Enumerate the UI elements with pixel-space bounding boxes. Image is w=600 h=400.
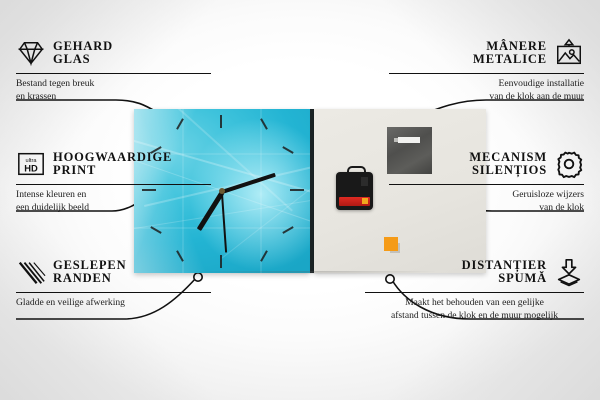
feature-divider (16, 73, 211, 74)
feature-silent-mechanism: MECANISM SILENȚIOS Geruisloze wijzers va… (389, 147, 584, 214)
diamond-icon (16, 38, 46, 68)
framed-picture-hook-icon (554, 38, 584, 68)
down-arrow-layers-icon (554, 257, 584, 287)
second-hand (221, 191, 227, 253)
feature-desc-line1: Bestand tegen breuk (16, 78, 211, 90)
feature-title-line1: DISTANȚIER (462, 259, 547, 273)
hanger-slot (398, 137, 420, 143)
feature-desc-line2: een duidelijk beeld (16, 202, 211, 214)
feature-desc-line1: Maakt het behouden van een gelijke (365, 297, 584, 309)
gear-icon (554, 149, 584, 179)
infographic-canvas: GEHARD GLAS Bestand tegen breuk en krass… (0, 0, 600, 400)
feature-divider (16, 292, 211, 293)
feature-desc-line2: en krassen (16, 91, 211, 103)
feature-desc-line2: van de klok aan de muur (389, 91, 584, 103)
feature-divider (389, 184, 584, 185)
feature-title-line1: GESLEPEN (53, 259, 127, 273)
feature-divider (389, 73, 584, 74)
feature-title-line2: SILENȚIOS (469, 164, 547, 178)
feature-foam-spacer: DISTANȚIER SPUMĂ Maakt het behouden van … (365, 255, 584, 322)
feature-desc-line2: afstand tussen de klok en de muur mogeli… (365, 310, 584, 322)
feature-metal-handles: MÂNERE METALICE Eenvoudige installatie v… (389, 36, 584, 103)
feature-title-line2: SPUMĂ (462, 272, 547, 286)
feature-high-quality-print: ultra HD HOOGWAARDIGE PRINT Intense kleu… (16, 147, 211, 214)
feature-title-line1: GEHARD (53, 40, 113, 54)
feature-title-line2: GLAS (53, 53, 113, 67)
clock-mechanism (336, 172, 373, 210)
bevelled-edges-icon (16, 257, 46, 287)
aa-battery (339, 197, 370, 206)
feature-title-line1: MECANISM (469, 151, 547, 165)
clock-hub (219, 188, 225, 194)
feature-desc-line1: Gladde en veilige afwerking (16, 297, 211, 309)
feature-title-line2: PRINT (53, 164, 172, 178)
feature-title-line2: RANDEN (53, 272, 127, 286)
feature-divider (365, 292, 584, 293)
feature-desc-line1: Intense kleuren en (16, 189, 211, 201)
feature-divider (16, 184, 211, 185)
feature-desc-line2: van de klok (389, 202, 584, 214)
foam-spacer-square (384, 237, 398, 251)
feature-desc-line1: Geruisloze wijzers (389, 189, 584, 201)
feature-desc-line1: Eenvoudige installatie (389, 78, 584, 90)
feature-title-line2: METALICE (473, 53, 547, 67)
feature-tempered-glass: GEHARD GLAS Bestand tegen breuk en krass… (16, 36, 211, 103)
feature-title-line1: MÂNERE (473, 40, 547, 54)
mechanism-loop (347, 166, 366, 177)
feature-polished-edges: GESLEPEN RANDEN Gladde en veilige afwerk… (16, 255, 211, 310)
ultra-hd-icon: ultra HD (16, 149, 46, 179)
mechanism-dial (361, 177, 368, 186)
svg-text:HD: HD (24, 164, 38, 174)
feature-title-line1: HOOGWAARDIGE (53, 151, 172, 165)
